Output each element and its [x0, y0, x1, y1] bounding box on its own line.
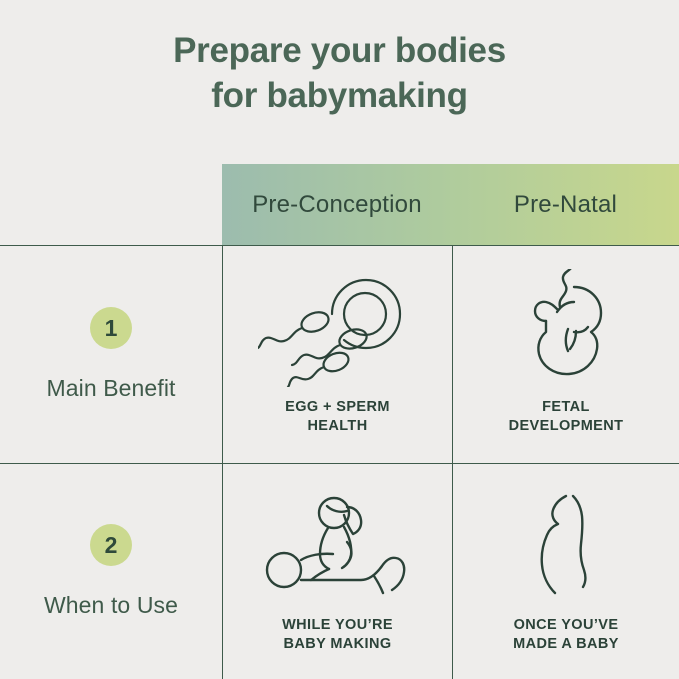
page-title-line-1: Prepare your bodies [0, 28, 679, 73]
row-badge-number: 1 [105, 315, 118, 342]
row-badge-number: 2 [105, 532, 118, 559]
page-title: Prepare your bodies for babymaking [0, 28, 679, 118]
cell-caption-line-1: EGG + SPERM [285, 398, 390, 417]
comparison-table: Pre-Conception Pre-Natal 1 Main Benefit [0, 160, 679, 679]
cell-caption: ONCE YOU’VE MADE A BABY [513, 616, 619, 654]
infographic-page: Prepare your bodies for babymaking Pre-C… [0, 0, 679, 679]
column-header-pre-conception: Pre-Conception [222, 164, 452, 245]
fetus-icon [510, 264, 622, 392]
cell-when-to-use-pre-natal: ONCE YOU’VE MADE A BABY [453, 464, 679, 679]
cell-caption: WHILE YOU’RE BABY MAKING [282, 616, 393, 654]
egg-and-sperm-icon [258, 264, 418, 392]
column-header-label: Pre-Conception [252, 191, 422, 219]
cell-caption: FETAL DEVELOPMENT [509, 398, 624, 436]
cell-caption-line-2: DEVELOPMENT [509, 417, 624, 436]
row-badge-1: 1 [90, 307, 132, 349]
row-label-when-to-use: 2 When to Use [0, 464, 222, 679]
cell-when-to-use-pre-conception: WHILE YOU’RE BABY MAKING [223, 464, 452, 679]
cell-caption-line-2: MADE A BABY [513, 635, 619, 654]
cell-caption: EGG + SPERM HEALTH [285, 398, 390, 436]
couple-intimacy-icon [258, 482, 418, 610]
cell-caption-line-1: WHILE YOU’RE [282, 616, 393, 635]
cell-caption-line-1: FETAL [509, 398, 624, 417]
column-header-label: Pre-Natal [514, 191, 617, 219]
cell-main-benefit-pre-natal: FETAL DEVELOPMENT [453, 246, 679, 463]
row-label-main-benefit: 1 Main Benefit [0, 246, 222, 463]
page-title-line-2: for babymaking [0, 73, 679, 118]
cell-caption-line-2: HEALTH [285, 417, 390, 436]
row-label-text: Main Benefit [46, 375, 175, 402]
column-header-pre-natal: Pre-Natal [452, 164, 679, 245]
cell-caption-line-2: BABY MAKING [282, 635, 393, 654]
row-badge-2: 2 [90, 524, 132, 566]
row-label-text: When to Use [44, 592, 178, 619]
cell-main-benefit-pre-conception: EGG + SPERM HEALTH [223, 246, 452, 463]
cell-caption-line-1: ONCE YOU’VE [513, 616, 619, 635]
pregnant-silhouette-icon [518, 482, 614, 610]
